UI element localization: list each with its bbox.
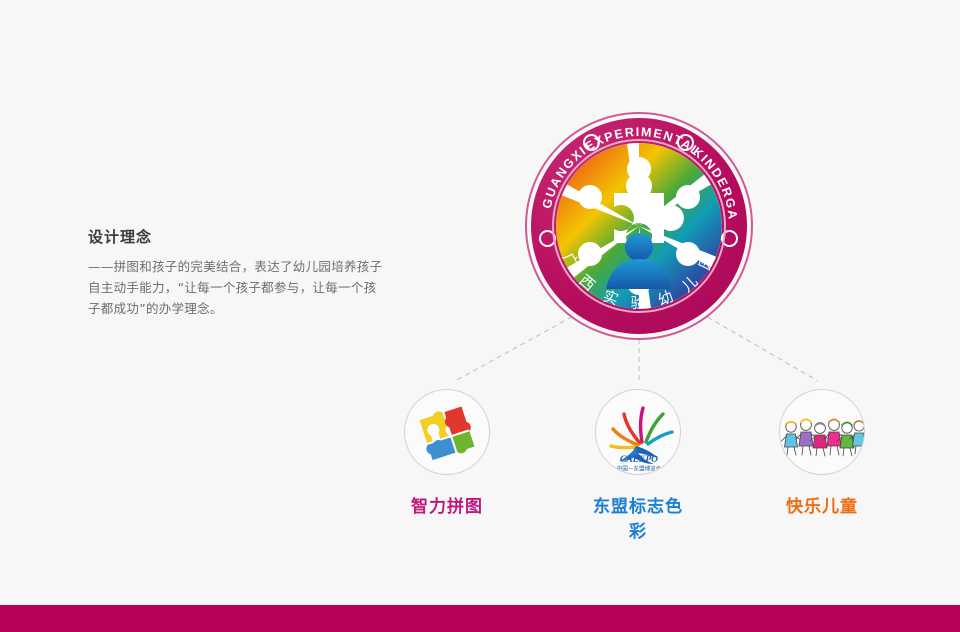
feature-icon-circle bbox=[404, 389, 490, 475]
jigsaw-puzzle-icon bbox=[405, 390, 490, 475]
caexpo-wordmark: CAEXPO bbox=[620, 455, 658, 465]
feature-item-caexpo[interactable]: CAEXPO 中国－东盟博览会 东盟标志色彩 bbox=[588, 389, 688, 542]
caexpo-subtext: 中国－东盟博览会 bbox=[617, 465, 662, 473]
page-title: 设计理念 bbox=[88, 226, 388, 247]
feature-item-puzzle[interactable]: 智力拼图 bbox=[397, 389, 497, 517]
caexpo-logo-icon: CAEXPO 中国－东盟博览会 bbox=[596, 390, 681, 475]
main-logo: GUANGXI EXPERIMENTAL KINDERGARTEN 广 西 实 … bbox=[525, 112, 753, 340]
feature-label-caexpo: 东盟标志色彩 bbox=[588, 492, 688, 542]
rainbow-figure-ring bbox=[556, 143, 722, 309]
feature-label-children: 快乐儿童 bbox=[772, 492, 872, 517]
design-concept-page: 设计理念 ——拼图和孩子的完美结合，表达了幼儿园培养孩子自主动手能力，“让每一个… bbox=[0, 0, 960, 632]
logo-core bbox=[556, 143, 722, 309]
concept-description: ——拼图和孩子的完美结合，表达了幼儿园培养孩子自主动手能力，“让每一个孩子都参与… bbox=[88, 256, 388, 319]
feature-item-children[interactable]: 快乐儿童 bbox=[772, 389, 872, 517]
feature-icon-circle: CAEXPO 中国－东盟博览会 bbox=[595, 389, 681, 475]
happy-children-icon bbox=[780, 390, 865, 475]
feature-label-puzzle: 智力拼图 bbox=[397, 492, 497, 517]
design-concept-block: 设计理念 ——拼图和孩子的完美结合，表达了幼儿园培养孩子自主动手能力，“让每一个… bbox=[88, 226, 388, 319]
feature-icon-circle bbox=[779, 389, 865, 475]
footer-bar bbox=[0, 605, 960, 632]
